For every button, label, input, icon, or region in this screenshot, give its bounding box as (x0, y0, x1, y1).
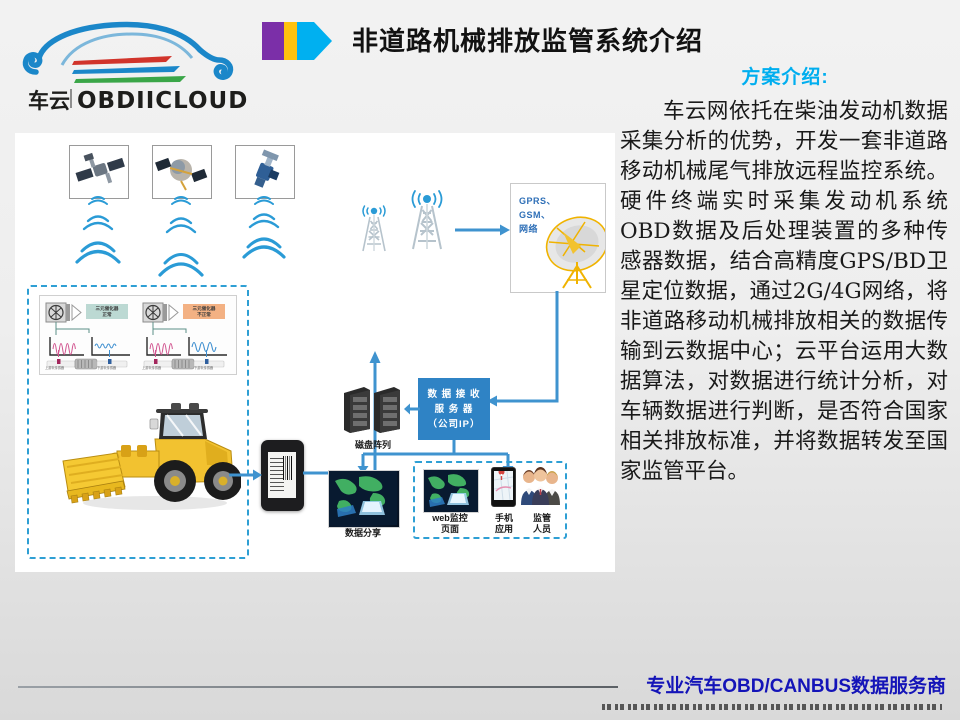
construction-machine-icon (55, 395, 241, 515)
consumers-container: web监控 页面 手机 应用 监管 人员 (413, 461, 567, 539)
footer-divider (18, 686, 618, 688)
vehicle-group-container: 三元催化器 正常 上游氧传感器 下游氧传感器 (27, 285, 249, 559)
obd-terminal-device (261, 440, 304, 511)
company-logo: 车云 OBDIICLOUD (14, 10, 250, 115)
web-monitor-image (423, 469, 479, 513)
footer-tagline: 专业汽车OBD/CANBUS数据服务商 (646, 671, 946, 698)
slide: 车云 OBDIICLOUD 非道路机械排放监管系统介绍 方案介绍: 车云网依托在… (0, 0, 960, 720)
catalyst-abnormal-badge: 三元催化器 不正常 (183, 304, 225, 319)
cell-tower-1-icon (357, 199, 391, 253)
satellite-dish-icon (533, 206, 606, 292)
logo-cn-text: 车云 (28, 89, 70, 113)
footer-subtext-decoration (602, 704, 942, 710)
catalyst-normal-group: 三元催化器 正常 上游氧传感器 下游氧传感器 (42, 299, 136, 371)
signal-waves-1-icon (75, 191, 121, 287)
server-label-line3: （公司IP） (428, 417, 481, 432)
description-title: 方案介绍: (618, 62, 952, 89)
catalyst-normal-line1: 三元催化器 (96, 306, 119, 311)
signal-waves-3-icon (241, 191, 287, 287)
description-panel: 方案介绍: 车云网依托在柴油发动机数据采集分析的优势，开发一套非道路移动机械尾气… (618, 62, 952, 487)
cell-tower-2-icon (405, 183, 449, 251)
catalyst-abnormal-group: 三元催化器 不正常 上游氧传感器 下游氧传感器 (139, 299, 233, 371)
title-flag-icon (262, 22, 334, 60)
data-receive-server-box: 数 据 接 收 服 务 器 （公司IP） (418, 378, 490, 440)
data-share-label: 数据分享 (320, 528, 406, 539)
server-label-line2: 服 务 器 (435, 402, 474, 417)
catalyst-normal-badge: 三元催化器 正常 (86, 304, 128, 319)
slide-footer: 专业汽车OBD/CANBUS数据服务商 (0, 654, 960, 720)
catalyst-abnormal-line2: 不正常 (197, 312, 211, 317)
mobile-app-label-line1: 手机 (495, 513, 513, 523)
sensor-diagram-panel: 三元催化器 正常 上游氧传感器 下游氧传感器 (39, 295, 237, 375)
signal-waves-2-icon (158, 191, 204, 287)
logo-en-text: OBDIICLOUD (77, 88, 248, 114)
supervisor-label: 监管 人员 (521, 513, 563, 535)
supervisor-label-line2: 人员 (533, 524, 551, 534)
supervisor-label-line1: 监管 (533, 513, 551, 523)
downstream-sensor-label-right: 下游氧传感器 (194, 365, 213, 370)
mobile-phone-icon (491, 467, 516, 507)
web-monitor-label-line2: 页面 (441, 524, 459, 534)
page-title: 非道路机械排放监管系统介绍 (352, 22, 703, 60)
connector-network-to-server (483, 291, 573, 422)
mobile-app-label: 手机 应用 (483, 513, 525, 535)
architecture-diagram: 三元催化器 正常 上游氧传感器 下游氧传感器 (15, 133, 615, 572)
arrow-tower-to-network (455, 223, 511, 242)
disk-array-icon (342, 385, 404, 433)
downstream-sensor-label-left: 下游氧传感器 (97, 365, 116, 370)
supervisor-people-icon (521, 467, 561, 505)
description-body: 车云网依托在柴油发动机数据采集分析的优势，开发一套非道路移动机械尾气排放远程监控… (618, 97, 952, 487)
mobile-app-label-line2: 应用 (495, 524, 513, 534)
arrow-server-to-disk (404, 402, 420, 421)
server-label-line1: 数 据 接 收 (428, 387, 481, 402)
data-share-image (328, 470, 400, 528)
catalyst-normal-line2: 正常 (102, 312, 111, 317)
web-monitor-label: web监控 页面 (417, 513, 483, 535)
upstream-sensor-label-left: 上游氧传感器 (45, 365, 64, 370)
arrow-sensor-to-obd (229, 468, 263, 487)
catalyst-abnormal-line1: 三元催化器 (193, 306, 216, 311)
network-box: GPRS、 GSM、 网络 (510, 183, 606, 293)
upstream-sensor-label-right: 上游氧传感器 (142, 365, 161, 370)
web-monitor-label-line1: web监控 (432, 513, 468, 523)
